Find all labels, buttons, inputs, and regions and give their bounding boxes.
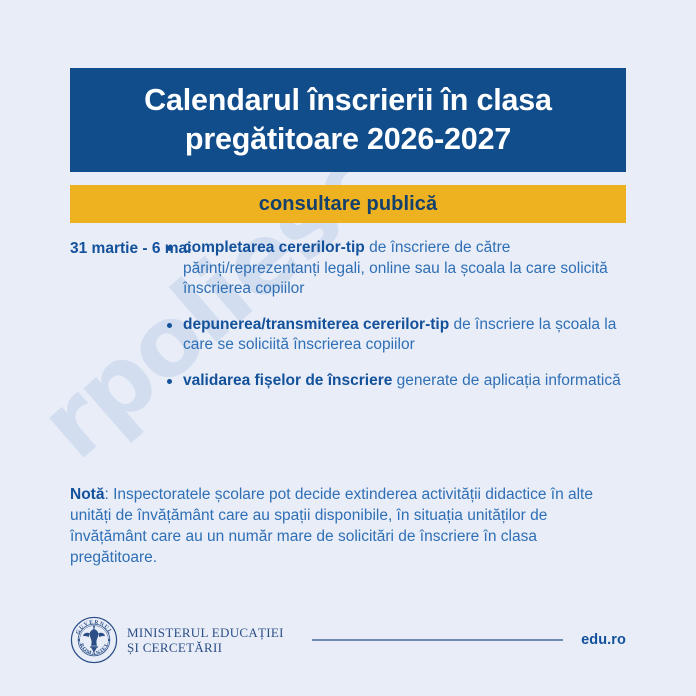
footer: GUVERNUL ROMÂNIEI MINISTERUL EDUCAȚIE: [70, 612, 626, 668]
header-banner: Calendarul înscrierii în clasa pregătito…: [70, 68, 626, 172]
note-text: : Inspectoratele școlare pot decide exti…: [70, 486, 593, 566]
list-item-bold: depunerea/transmiterea cererilor-tip: [183, 316, 449, 333]
footer-divider: [312, 639, 563, 641]
schedule-row: 31 martie - 6 mai completarea cererilor-…: [0, 238, 696, 392]
ministry-name: MINISTERUL EDUCAȚIEI ȘI CERCETĂRII: [127, 625, 284, 656]
list-item: depunerea/transmiterea cererilor-tip de …: [165, 315, 638, 356]
note-paragraph: Notă: Inspectoratele școlare pot decide …: [70, 484, 618, 568]
subtitle-label: consultare publică: [259, 193, 438, 216]
schedule-date-label: 31 martie - 6 mai: [0, 238, 165, 259]
ministry-name-line-2: ȘI CERCETĂRII: [127, 640, 284, 655]
bullet-dot-icon: [167, 246, 172, 251]
page-title: Calendarul înscrierii în clasa pregătito…: [130, 81, 566, 159]
guvernul-romaniei-seal-icon: GUVERNUL ROMÂNIEI: [70, 616, 118, 664]
schedule-section: 31 martie - 6 mai completarea cererilor-…: [0, 238, 696, 392]
website-label: edu.ro: [581, 632, 626, 648]
list-item: completarea cererilor-tip de înscriere d…: [165, 238, 638, 300]
ministry-name-line-1: MINISTERUL EDUCAȚIEI: [127, 625, 284, 640]
poster-canvas: rpoliesc Calendarul înscrierii în clasa …: [0, 0, 696, 696]
page-title-line-1: Calendarul înscrierii în clasa: [144, 83, 552, 117]
bullet-dot-icon: [167, 379, 172, 384]
subtitle-banner: consultare publică: [70, 185, 626, 223]
note-label: Notă: [70, 486, 104, 503]
bullet-dot-icon: [167, 323, 172, 328]
page-title-line-2: pregătitoare 2026-2027: [185, 122, 511, 156]
list-item-bold: completarea cererilor-tip: [183, 239, 365, 256]
list-item-text: generate de aplicația informatică: [392, 372, 620, 389]
schedule-bullet-list: completarea cererilor-tip de înscriere d…: [165, 238, 696, 392]
list-item: validarea fișelor de înscriere generate …: [165, 371, 638, 392]
list-item-bold: validarea fișelor de înscriere: [183, 372, 392, 389]
